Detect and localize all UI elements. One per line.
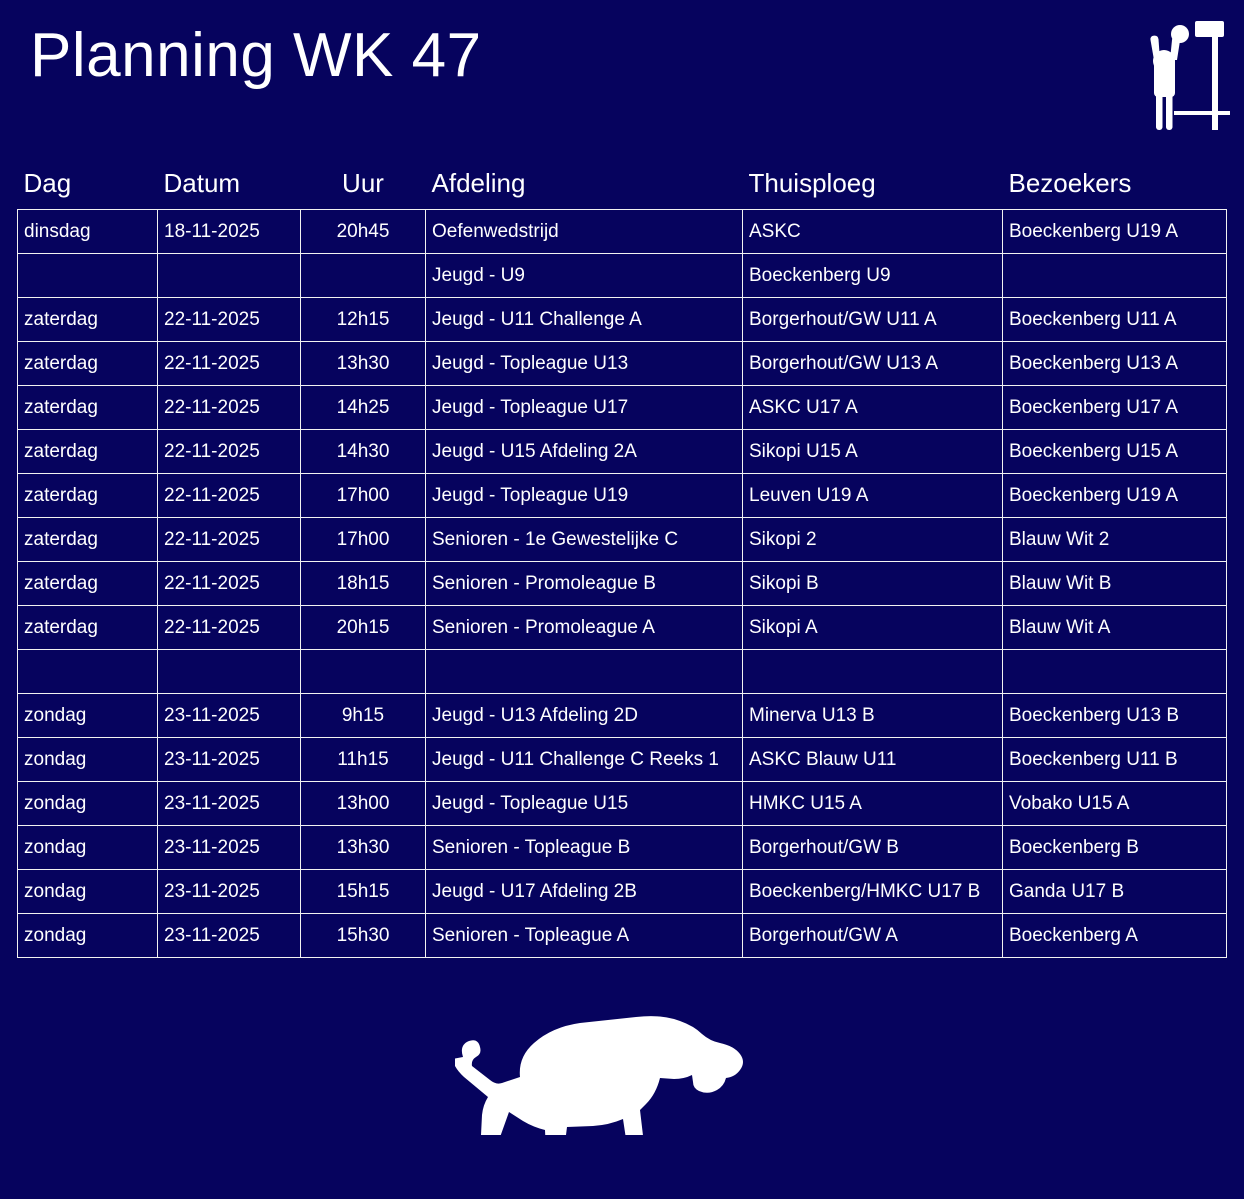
- cell-thuis: Borgerhout/GW U13 A: [743, 342, 1003, 386]
- cell-thuis: Borgerhout/GW A: [743, 914, 1003, 958]
- cell-dag: [18, 650, 158, 694]
- table-row: zondag23-11-202515h15Jeugd - U17 Afdelin…: [18, 870, 1227, 914]
- cell-datum: 23-11-2025: [158, 870, 301, 914]
- cell-datum: 22-11-2025: [158, 562, 301, 606]
- cell-thuis: ASKC U17 A: [743, 386, 1003, 430]
- cell-datum: 18-11-2025: [158, 210, 301, 254]
- cell-thuis: ASKC: [743, 210, 1003, 254]
- cell-dag: zaterdag: [18, 606, 158, 650]
- cell-dag: zondag: [18, 738, 158, 782]
- cell-thuis: ASKC Blauw U11: [743, 738, 1003, 782]
- table-header-row: Dag Datum Uur Afdeling Thuisploeg Bezoek…: [18, 168, 1227, 210]
- cell-datum: 22-11-2025: [158, 518, 301, 562]
- cell-dag: dinsdag: [18, 210, 158, 254]
- cell-dag: zaterdag: [18, 430, 158, 474]
- cell-afdeling: Jeugd - Topleague U17: [426, 386, 743, 430]
- cell-bezoek: Blauw Wit B: [1003, 562, 1227, 606]
- cell-dag: zondag: [18, 826, 158, 870]
- cell-thuis: Sikopi U15 A: [743, 430, 1003, 474]
- cell-afdeling: Jeugd - U13 Afdeling 2D: [426, 694, 743, 738]
- page-header: Planning WK 47: [0, 0, 1244, 150]
- cell-uur: 14h25: [301, 386, 426, 430]
- cell-bezoek: Boeckenberg U11 A: [1003, 298, 1227, 342]
- cell-datum: [158, 650, 301, 694]
- cell-uur: [301, 650, 426, 694]
- cell-uur: 17h00: [301, 474, 426, 518]
- table-body: dinsdag18-11-202520h45OefenwedstrijdASKC…: [18, 210, 1227, 958]
- cell-thuis: Sikopi A: [743, 606, 1003, 650]
- cell-afdeling: Senioren - Promoleague A: [426, 606, 743, 650]
- cell-dag: zaterdag: [18, 518, 158, 562]
- cell-datum: 23-11-2025: [158, 738, 301, 782]
- cell-bezoek: Boeckenberg A: [1003, 914, 1227, 958]
- cell-datum: [158, 254, 301, 298]
- table-row: zondag23-11-20259h15Jeugd - U13 Afdeling…: [18, 694, 1227, 738]
- cell-datum: 22-11-2025: [158, 298, 301, 342]
- cell-dag: zaterdag: [18, 562, 158, 606]
- column-header-afdeling: Afdeling: [426, 168, 743, 210]
- cell-bezoek: Vobako U15 A: [1003, 782, 1227, 826]
- cell-afdeling: Senioren - 1e Gewestelijke C: [426, 518, 743, 562]
- cell-uur: 17h00: [301, 518, 426, 562]
- korfball-player-icon: [1134, 12, 1230, 130]
- table-row: Jeugd - U9Boeckenberg U9: [18, 254, 1227, 298]
- cell-uur: 20h15: [301, 606, 426, 650]
- cell-datum: 22-11-2025: [158, 342, 301, 386]
- cell-dag: zaterdag: [18, 386, 158, 430]
- cell-afdeling: Senioren - Topleague A: [426, 914, 743, 958]
- cell-afdeling: Oefenwedstrijd: [426, 210, 743, 254]
- cell-afdeling: [426, 650, 743, 694]
- table-row: zaterdag22-11-202517h00Jeugd - Topleague…: [18, 474, 1227, 518]
- cell-dag: zaterdag: [18, 298, 158, 342]
- column-header-thuisploeg: Thuisploeg: [743, 168, 1003, 210]
- cell-afdeling: Jeugd - U11 Challenge A: [426, 298, 743, 342]
- cell-thuis: Boeckenberg/HMKC U17 B: [743, 870, 1003, 914]
- cell-afdeling: Senioren - Topleague B: [426, 826, 743, 870]
- column-header-dag: Dag: [18, 168, 158, 210]
- cell-bezoek: Boeckenberg U13 A: [1003, 342, 1227, 386]
- cell-uur: 20h45: [301, 210, 426, 254]
- cell-thuis: Minerva U13 B: [743, 694, 1003, 738]
- table-spacer-row: [18, 650, 1227, 694]
- cell-datum: 22-11-2025: [158, 606, 301, 650]
- cell-datum: 22-11-2025: [158, 474, 301, 518]
- cell-afdeling: Jeugd - Topleague U15: [426, 782, 743, 826]
- table-row: zondag23-11-202511h15Jeugd - U11 Challen…: [18, 738, 1227, 782]
- table-header: Dag Datum Uur Afdeling Thuisploeg Bezoek…: [18, 168, 1227, 210]
- cell-uur: 15h15: [301, 870, 426, 914]
- cell-dag: zondag: [18, 870, 158, 914]
- cell-bezoek: [1003, 254, 1227, 298]
- table-row: zaterdag22-11-202520h15Senioren - Promol…: [18, 606, 1227, 650]
- cell-datum: 22-11-2025: [158, 430, 301, 474]
- column-header-uur: Uur: [301, 168, 426, 210]
- cell-uur: 13h00: [301, 782, 426, 826]
- cell-thuis: Boeckenberg U9: [743, 254, 1003, 298]
- cell-bezoek: Boeckenberg U19 A: [1003, 210, 1227, 254]
- table-row: zondag23-11-202515h30Senioren - Topleagu…: [18, 914, 1227, 958]
- table-row: zaterdag22-11-202517h00Senioren - 1e Gew…: [18, 518, 1227, 562]
- cell-thuis: Sikopi B: [743, 562, 1003, 606]
- cell-datum: 22-11-2025: [158, 386, 301, 430]
- cell-uur: 14h30: [301, 430, 426, 474]
- cell-bezoek: Boeckenberg U15 A: [1003, 430, 1227, 474]
- cell-dag: [18, 254, 158, 298]
- cell-uur: 18h15: [301, 562, 426, 606]
- cell-thuis: Leuven U19 A: [743, 474, 1003, 518]
- cell-thuis: HMKC U15 A: [743, 782, 1003, 826]
- cell-dag: zondag: [18, 782, 158, 826]
- cell-afdeling: Jeugd - Topleague U19: [426, 474, 743, 518]
- cell-uur: 11h15: [301, 738, 426, 782]
- panther-silhouette-icon: [455, 995, 765, 1135]
- cell-bezoek: [1003, 650, 1227, 694]
- cell-uur: 13h30: [301, 826, 426, 870]
- schedule-table-container: Dag Datum Uur Afdeling Thuisploeg Bezoek…: [17, 168, 1226, 958]
- cell-thuis: Borgerhout/GW B: [743, 826, 1003, 870]
- cell-dag: zondag: [18, 914, 158, 958]
- table-row: dinsdag18-11-202520h45OefenwedstrijdASKC…: [18, 210, 1227, 254]
- cell-afdeling: Jeugd - Topleague U13: [426, 342, 743, 386]
- cell-uur: 15h30: [301, 914, 426, 958]
- cell-thuis: [743, 650, 1003, 694]
- table-row: zaterdag22-11-202514h30Jeugd - U15 Afdel…: [18, 430, 1227, 474]
- cell-bezoek: Blauw Wit A: [1003, 606, 1227, 650]
- cell-uur: 13h30: [301, 342, 426, 386]
- cell-dag: zaterdag: [18, 474, 158, 518]
- table-row: zaterdag22-11-202514h25Jeugd - Topleague…: [18, 386, 1227, 430]
- table-row: zondag23-11-202513h30Senioren - Topleagu…: [18, 826, 1227, 870]
- page-title: Planning WK 47: [30, 22, 482, 90]
- cell-uur: [301, 254, 426, 298]
- table-row: zondag23-11-202513h00Jeugd - Topleague U…: [18, 782, 1227, 826]
- column-header-datum: Datum: [158, 168, 301, 210]
- cell-bezoek: Boeckenberg U19 A: [1003, 474, 1227, 518]
- schedule-table: Dag Datum Uur Afdeling Thuisploeg Bezoek…: [17, 168, 1227, 958]
- cell-bezoek: Boeckenberg U17 A: [1003, 386, 1227, 430]
- cell-afdeling: Jeugd - U9: [426, 254, 743, 298]
- cell-datum: 23-11-2025: [158, 914, 301, 958]
- cell-bezoek: Ganda U17 B: [1003, 870, 1227, 914]
- column-header-bezoekers: Bezoekers: [1003, 168, 1227, 210]
- table-row: zaterdag22-11-202518h15Senioren - Promol…: [18, 562, 1227, 606]
- table-row: zaterdag22-11-202513h30Jeugd - Topleague…: [18, 342, 1227, 386]
- cell-afdeling: Jeugd - U11 Challenge C Reeks 1: [426, 738, 743, 782]
- cell-dag: zondag: [18, 694, 158, 738]
- cell-datum: 23-11-2025: [158, 694, 301, 738]
- cell-datum: 23-11-2025: [158, 782, 301, 826]
- cell-uur: 9h15: [301, 694, 426, 738]
- cell-dag: zaterdag: [18, 342, 158, 386]
- cell-datum: 23-11-2025: [158, 826, 301, 870]
- table-row: zaterdag22-11-202512h15Jeugd - U11 Chall…: [18, 298, 1227, 342]
- cell-thuis: Sikopi 2: [743, 518, 1003, 562]
- cell-thuis: Borgerhout/GW U11 A: [743, 298, 1003, 342]
- cell-bezoek: Boeckenberg U11 B: [1003, 738, 1227, 782]
- cell-bezoek: Boeckenberg U13 B: [1003, 694, 1227, 738]
- cell-afdeling: Jeugd - U17 Afdeling 2B: [426, 870, 743, 914]
- cell-bezoek: Blauw Wit 2: [1003, 518, 1227, 562]
- cell-afdeling: Senioren - Promoleague B: [426, 562, 743, 606]
- cell-afdeling: Jeugd - U15 Afdeling 2A: [426, 430, 743, 474]
- cell-bezoek: Boeckenberg B: [1003, 826, 1227, 870]
- cell-uur: 12h15: [301, 298, 426, 342]
